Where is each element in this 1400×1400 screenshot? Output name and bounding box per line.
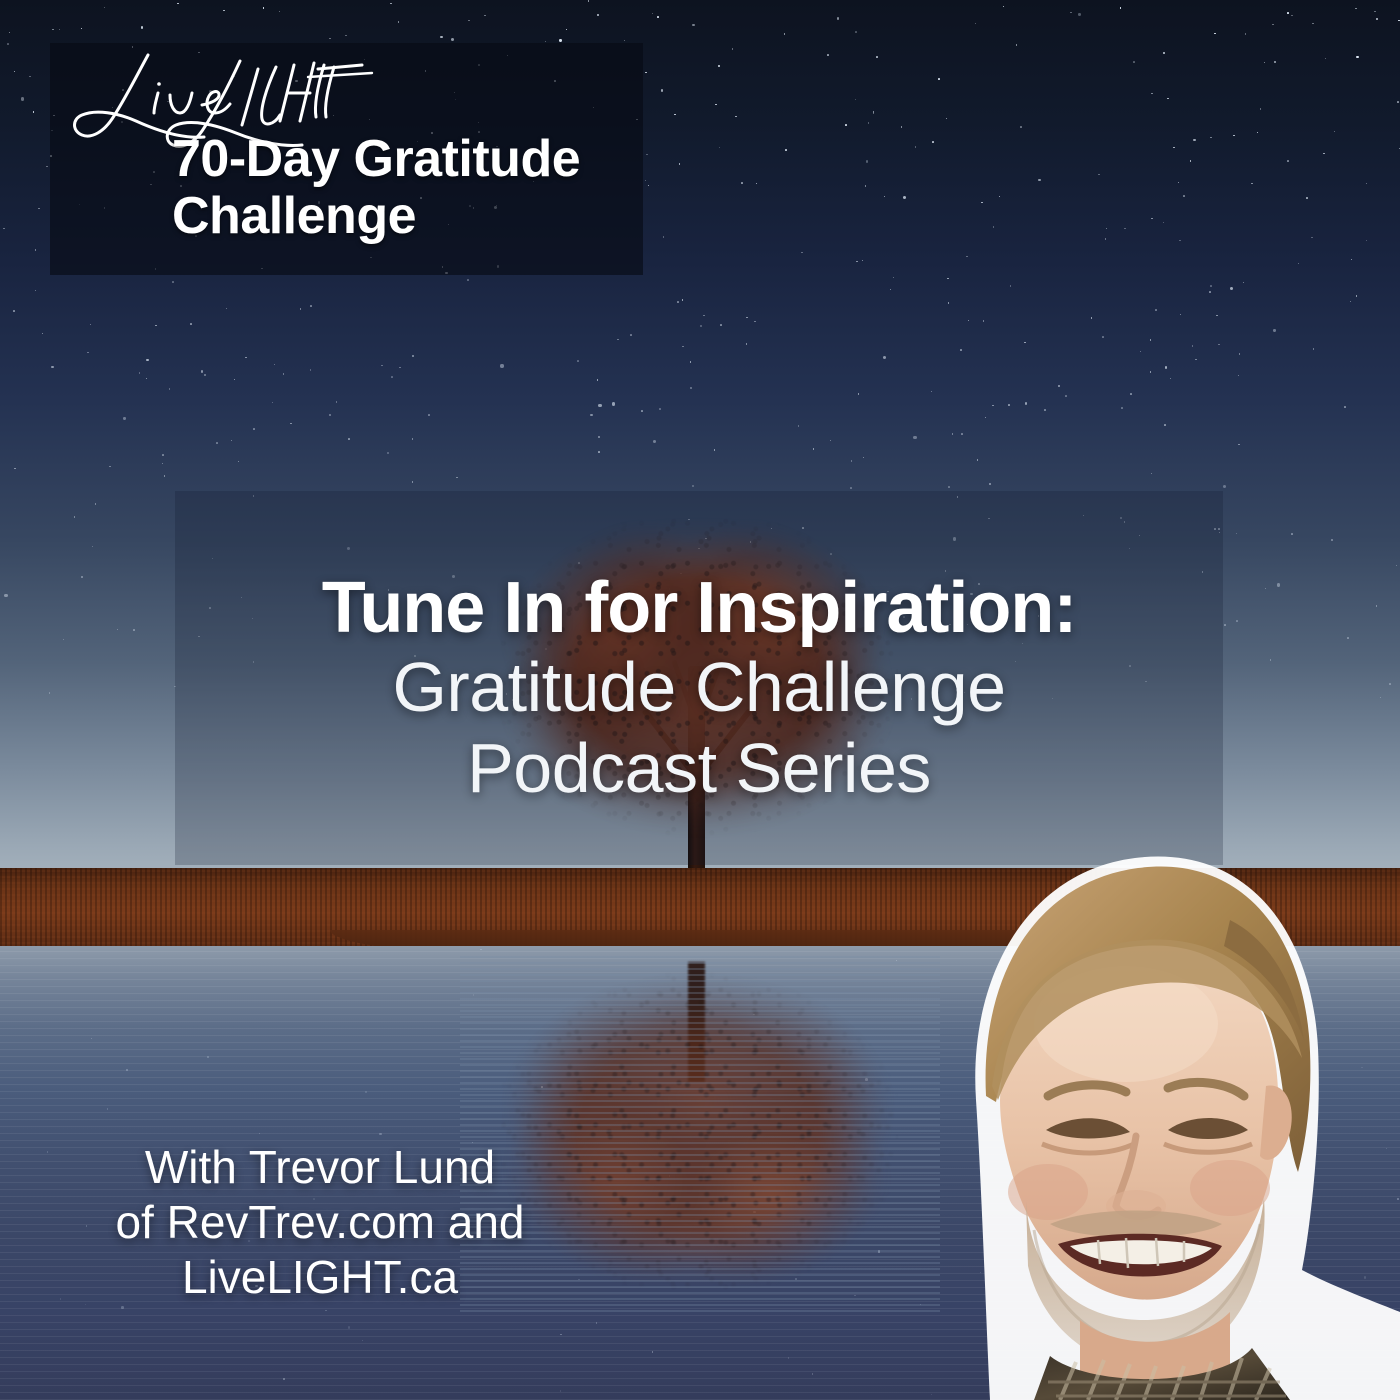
credits-line2: of RevTrev.com and — [60, 1195, 580, 1250]
headline-sub-line1: Gratitude Challenge — [175, 648, 1223, 726]
podcast-promo-graphic: Tune In for Inspiration: Gratitude Chall… — [0, 0, 1400, 1400]
credits-line3: LiveLIGHT.ca — [60, 1250, 580, 1305]
brand-logo-box: 70-Day Gratitude Challenge — [50, 43, 643, 275]
headline-sub-line2: Podcast Series — [175, 729, 1223, 807]
cheek-left — [1008, 1164, 1088, 1220]
credits-line1: With Trevor Lund — [60, 1140, 580, 1195]
headline-block: Tune In for Inspiration: Gratitude Chall… — [175, 570, 1223, 807]
program-title-line1: 70-Day Gratitude — [172, 131, 642, 188]
program-title-line2: Challenge — [172, 188, 642, 245]
program-title: 70-Day Gratitude Challenge — [172, 131, 642, 245]
credits-block: With Trevor Lund of RevTrev.com and Live… — [60, 1140, 580, 1306]
headline-main: Tune In for Inspiration: — [175, 570, 1223, 646]
cheek-right — [1190, 1160, 1270, 1216]
host-portrait-photo — [930, 800, 1400, 1400]
